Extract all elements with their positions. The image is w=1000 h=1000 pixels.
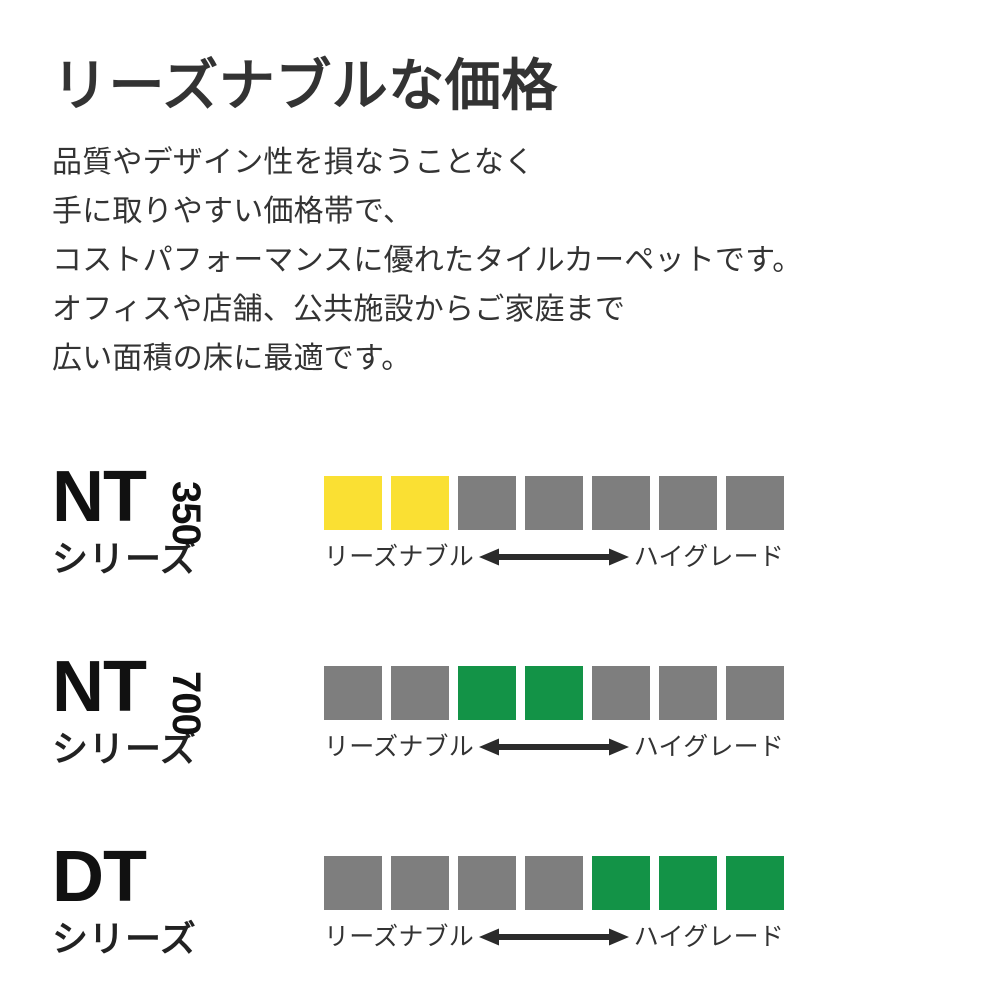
scale-label-low: リーズナブル bbox=[324, 922, 474, 952]
page-title: リーズナブルな価格 bbox=[52, 56, 952, 116]
series-name: NT 700 bbox=[52, 652, 292, 726]
swatch-strip bbox=[324, 856, 784, 910]
grade-scale: リーズナブル ハイグレード bbox=[324, 856, 784, 952]
swatch bbox=[659, 666, 717, 720]
swatch-strip bbox=[324, 476, 784, 530]
grade-scale: リーズナブル ハイグレード bbox=[324, 476, 784, 572]
product-price-infographic: リーズナブルな価格 品質やデザイン性を損なうことなく 手に取りやすい価格帯で、 … bbox=[0, 0, 1000, 1000]
scale-label-high: ハイグレード bbox=[634, 922, 784, 952]
swatch bbox=[458, 856, 516, 910]
swatch bbox=[391, 666, 449, 720]
swatch bbox=[726, 666, 784, 720]
body-line: 広い面積の床に最適です。 bbox=[52, 334, 952, 383]
scale-caption: リーズナブル ハイグレード bbox=[324, 732, 784, 762]
swatch bbox=[726, 476, 784, 530]
series-label: NT 700 シリーズ bbox=[52, 652, 292, 772]
swatch bbox=[659, 476, 717, 530]
scale-caption: リーズナブル ハイグレード bbox=[324, 922, 784, 952]
swatch bbox=[458, 476, 516, 530]
swatch bbox=[324, 666, 382, 720]
series-row-nt350: NT 350 シリーズ リーズナブル bbox=[0, 462, 1000, 582]
swatch bbox=[391, 476, 449, 530]
swatch bbox=[525, 476, 583, 530]
swatch-strip bbox=[324, 666, 784, 720]
series-name: NT 350 bbox=[52, 462, 292, 536]
swatch bbox=[525, 666, 583, 720]
scale-label-high: ハイグレード bbox=[634, 542, 784, 572]
series-subtitle: シリーズ bbox=[52, 918, 292, 960]
grade-scale: リーズナブル ハイグレード bbox=[324, 666, 784, 762]
series-code: DT bbox=[52, 842, 146, 912]
body-line: コストパフォーマンスに優れたタイルカーペットです。 bbox=[52, 236, 952, 285]
scale-label-low: リーズナブル bbox=[324, 732, 474, 762]
series-row-nt700: NT 700 シリーズ リーズナブル bbox=[0, 652, 1000, 772]
heading-block: リーズナブルな価格 品質やデザイン性を損なうことなく 手に取りやすい価格帯で、 … bbox=[52, 56, 952, 383]
swatch bbox=[458, 666, 516, 720]
series-suffix: 700 bbox=[127, 671, 203, 705]
double-headed-arrow-icon bbox=[474, 736, 634, 758]
swatch bbox=[525, 856, 583, 910]
swatch bbox=[391, 856, 449, 910]
scale-label-low: リーズナブル bbox=[324, 542, 474, 572]
body-line: 手に取りやすい価格帯で、 bbox=[52, 187, 952, 236]
body-line: 品質やデザイン性を損なうことなく bbox=[52, 138, 952, 187]
swatch bbox=[324, 476, 382, 530]
body-line: オフィスや店舗、公共施設からご家庭まで bbox=[52, 285, 952, 334]
series-row-dt: DT シリーズ リーズナブル bbox=[0, 842, 1000, 962]
series-name: DT bbox=[52, 842, 292, 916]
series-suffix: 350 bbox=[127, 481, 203, 515]
double-headed-arrow-icon bbox=[474, 546, 634, 568]
scale-label-high: ハイグレード bbox=[634, 732, 784, 762]
series-label: NT 350 シリーズ bbox=[52, 462, 292, 582]
swatch bbox=[592, 666, 650, 720]
body-copy: 品質やデザイン性を損なうことなく 手に取りやすい価格帯で、 コストパフォーマンス… bbox=[52, 116, 952, 383]
swatch bbox=[592, 856, 650, 910]
swatch bbox=[592, 476, 650, 530]
series-label: DT シリーズ bbox=[52, 842, 292, 962]
swatch bbox=[659, 856, 717, 910]
swatch bbox=[324, 856, 382, 910]
double-headed-arrow-icon bbox=[474, 926, 634, 948]
swatch bbox=[726, 856, 784, 910]
scale-caption: リーズナブル ハイグレード bbox=[324, 542, 784, 572]
